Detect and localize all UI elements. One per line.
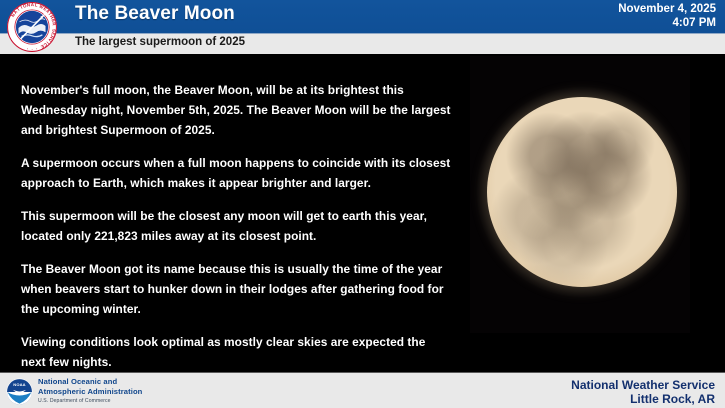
office-identifier: National Weather Service Little Rock, AR: [571, 378, 715, 406]
noaa-wordmark: National Oceanic and Atmospheric Adminis…: [38, 377, 142, 404]
content-area: November's full moon, the Beaver Moon, w…: [0, 54, 725, 372]
svg-text:·: ·: [31, 47, 32, 52]
noaa-department-line: U.S. Department of Commerce: [38, 398, 142, 404]
svg-text:NOAA: NOAA: [13, 382, 25, 387]
nws-seal-icon: N A T I O N A L W E A T H E R S E R V I …: [6, 1, 58, 53]
full-moon-disc: [487, 97, 677, 287]
page-title: The Beaver Moon: [75, 3, 235, 25]
moon-photo: [470, 56, 690, 333]
article-text: November's full moon, the Beaver Moon, w…: [21, 80, 453, 372]
noaa-seagull-icon: NOAA: [6, 378, 33, 405]
page-subtitle: The largest supermoon of 2025: [75, 36, 245, 48]
office-location: Little Rock, AR: [571, 392, 715, 406]
paragraph: Viewing conditions look optimal as mostl…: [21, 332, 453, 372]
noaa-line-1: National Oceanic and: [38, 377, 142, 387]
paragraph: This supermoon will be the closest any m…: [21, 206, 453, 246]
paragraph: The Beaver Moon got its name because thi…: [21, 259, 453, 319]
office-agency: National Weather Service: [571, 378, 715, 392]
header-time: 4:07 PM: [618, 16, 716, 30]
paragraph: A supermoon occurs when a full moon happ…: [21, 153, 453, 193]
noaa-line-2: Atmospheric Administration: [38, 387, 142, 397]
header-datetime: November 4, 2025 4:07 PM: [618, 2, 716, 30]
weather-graphic-page: N A T I O N A L W E A T H E R S E R V I …: [0, 0, 725, 408]
footer-bar: NOAA National Oceanic and Atmospheric Ad…: [0, 372, 725, 408]
paragraph: November's full moon, the Beaver Moon, w…: [21, 80, 453, 140]
header-date: November 4, 2025: [618, 2, 716, 16]
